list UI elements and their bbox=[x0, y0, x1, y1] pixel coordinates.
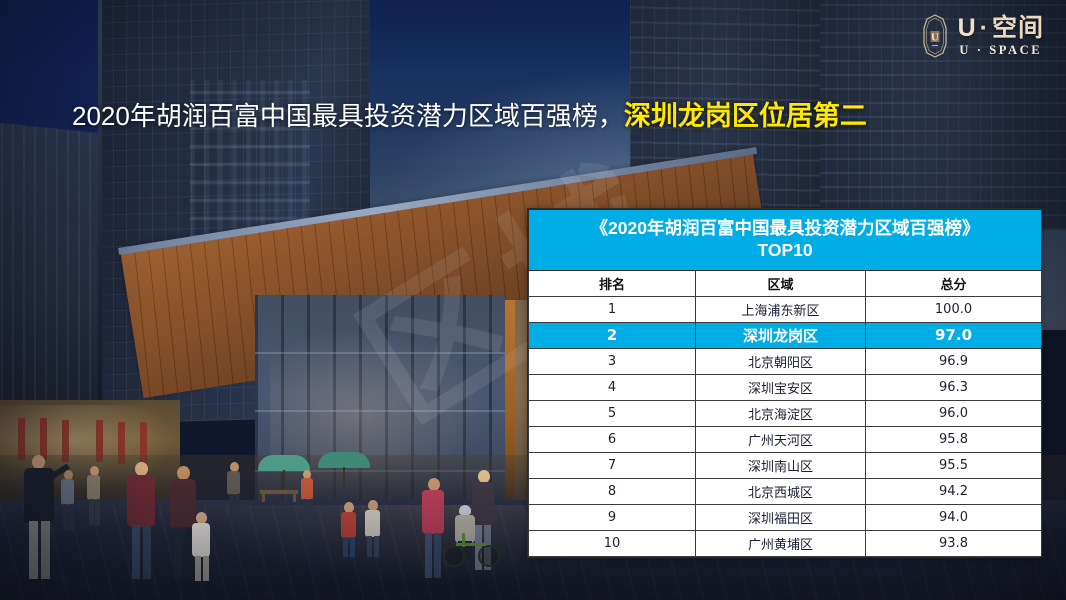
cell-score: 96.3 bbox=[866, 374, 1042, 400]
brand-name-cn-dot: · bbox=[980, 16, 989, 41]
brand-logo-text: U · 空间 U · SPACE bbox=[958, 16, 1044, 57]
column-header-rank: 排名 bbox=[529, 270, 696, 296]
cell-score: 96.0 bbox=[866, 400, 1042, 426]
cell-rank: 5 bbox=[529, 400, 696, 426]
cell-area: 深圳龙岗区 bbox=[696, 322, 866, 348]
page-title-prefix: 2020年胡润百富中国最具投资潜力区域百强榜， bbox=[72, 101, 624, 131]
column-header-area: 区域 bbox=[696, 270, 866, 296]
cell-rank: 10 bbox=[529, 530, 696, 556]
cell-area: 北京朝阳区 bbox=[696, 348, 866, 374]
table-row: 1上海浦东新区100.0 bbox=[529, 296, 1042, 322]
cell-score: 94.0 bbox=[866, 504, 1042, 530]
cell-score: 97.0 bbox=[866, 322, 1042, 348]
ranking-table-head: 《2020年胡润百富中国最具投资潜力区域百强榜》 TOP10 排名 区域 总分 bbox=[529, 210, 1042, 297]
cell-score: 94.2 bbox=[866, 478, 1042, 504]
cell-score: 96.9 bbox=[866, 348, 1042, 374]
table-row: 8北京西城区94.2 bbox=[529, 478, 1042, 504]
cell-rank: 3 bbox=[529, 348, 696, 374]
brand-name-en: U · SPACE bbox=[959, 44, 1042, 57]
cell-rank: 1 bbox=[529, 296, 696, 322]
table-row: 6广州天河区95.8 bbox=[529, 426, 1042, 452]
table-caption-line1: 《2020年胡润百富中国最具投资潜力区域百强榜》 bbox=[535, 217, 1035, 239]
table-row: 10广州黄埔区93.8 bbox=[529, 530, 1042, 556]
table-row: 5北京海淀区96.0 bbox=[529, 400, 1042, 426]
cell-area: 北京西城区 bbox=[696, 478, 866, 504]
cell-rank: 8 bbox=[529, 478, 696, 504]
shield-u-emblem-icon: U bbox=[921, 14, 949, 58]
table-caption-line2: TOP10 bbox=[535, 239, 1035, 261]
page-title: 2020年胡润百富中国最具投资潜力区域百强榜，深圳龙岗区位居第二 bbox=[72, 94, 867, 133]
page-title-highlight: 深圳龙岗区位居第二 bbox=[624, 101, 867, 131]
slide-canvas: 区域 2020年胡润百富中国最具投资潜力区域百强榜，深圳龙岗区位居第二 U U … bbox=[0, 0, 1066, 600]
cell-area: 广州天河区 bbox=[696, 426, 866, 452]
cell-score: 93.8 bbox=[866, 530, 1042, 556]
table-row: 7深圳南山区95.5 bbox=[529, 452, 1042, 478]
ranking-table-container: 《2020年胡润百富中国最具投资潜力区域百强榜》 TOP10 排名 区域 总分 … bbox=[527, 208, 1040, 558]
column-header-score: 总分 bbox=[866, 270, 1042, 296]
cell-score: 95.8 bbox=[866, 426, 1042, 452]
table-row: 3北京朝阳区96.9 bbox=[529, 348, 1042, 374]
table-caption-row: 《2020年胡润百富中国最具投资潜力区域百强榜》 TOP10 bbox=[529, 210, 1042, 271]
cell-rank: 2 bbox=[529, 322, 696, 348]
cell-rank: 7 bbox=[529, 452, 696, 478]
svg-text:U: U bbox=[931, 32, 939, 44]
brand-name-cn-u: U bbox=[958, 16, 977, 41]
cell-score: 100.0 bbox=[866, 296, 1042, 322]
brand-name-cn: U · 空间 bbox=[958, 16, 1044, 41]
cell-rank: 6 bbox=[529, 426, 696, 452]
brand-name-cn-rest: 空间 bbox=[992, 16, 1044, 41]
cell-rank: 4 bbox=[529, 374, 696, 400]
table-row: 9深圳福田区94.0 bbox=[529, 504, 1042, 530]
cell-area: 广州黄埔区 bbox=[696, 530, 866, 556]
table-header-row: 排名 区域 总分 bbox=[529, 270, 1042, 296]
cell-rank: 9 bbox=[529, 504, 696, 530]
table-row: 2深圳龙岗区97.0 bbox=[529, 322, 1042, 348]
cell-area: 北京海淀区 bbox=[696, 400, 866, 426]
table-caption: 《2020年胡润百富中国最具投资潜力区域百强榜》 TOP10 bbox=[529, 210, 1042, 271]
cell-area: 上海浦东新区 bbox=[696, 296, 866, 322]
cell-area: 深圳南山区 bbox=[696, 452, 866, 478]
table-row: 4深圳宝安区96.3 bbox=[529, 374, 1042, 400]
cell-area: 深圳福田区 bbox=[696, 504, 866, 530]
ranking-table-body: 1上海浦东新区100.02深圳龙岗区97.03北京朝阳区96.94深圳宝安区96… bbox=[529, 296, 1042, 556]
brand-logo: U U · 空间 U · SPACE bbox=[921, 14, 1044, 58]
ranking-table: 《2020年胡润百富中国最具投资潜力区域百强榜》 TOP10 排名 区域 总分 … bbox=[528, 209, 1042, 557]
cell-area: 深圳宝安区 bbox=[696, 374, 866, 400]
cell-score: 95.5 bbox=[866, 452, 1042, 478]
